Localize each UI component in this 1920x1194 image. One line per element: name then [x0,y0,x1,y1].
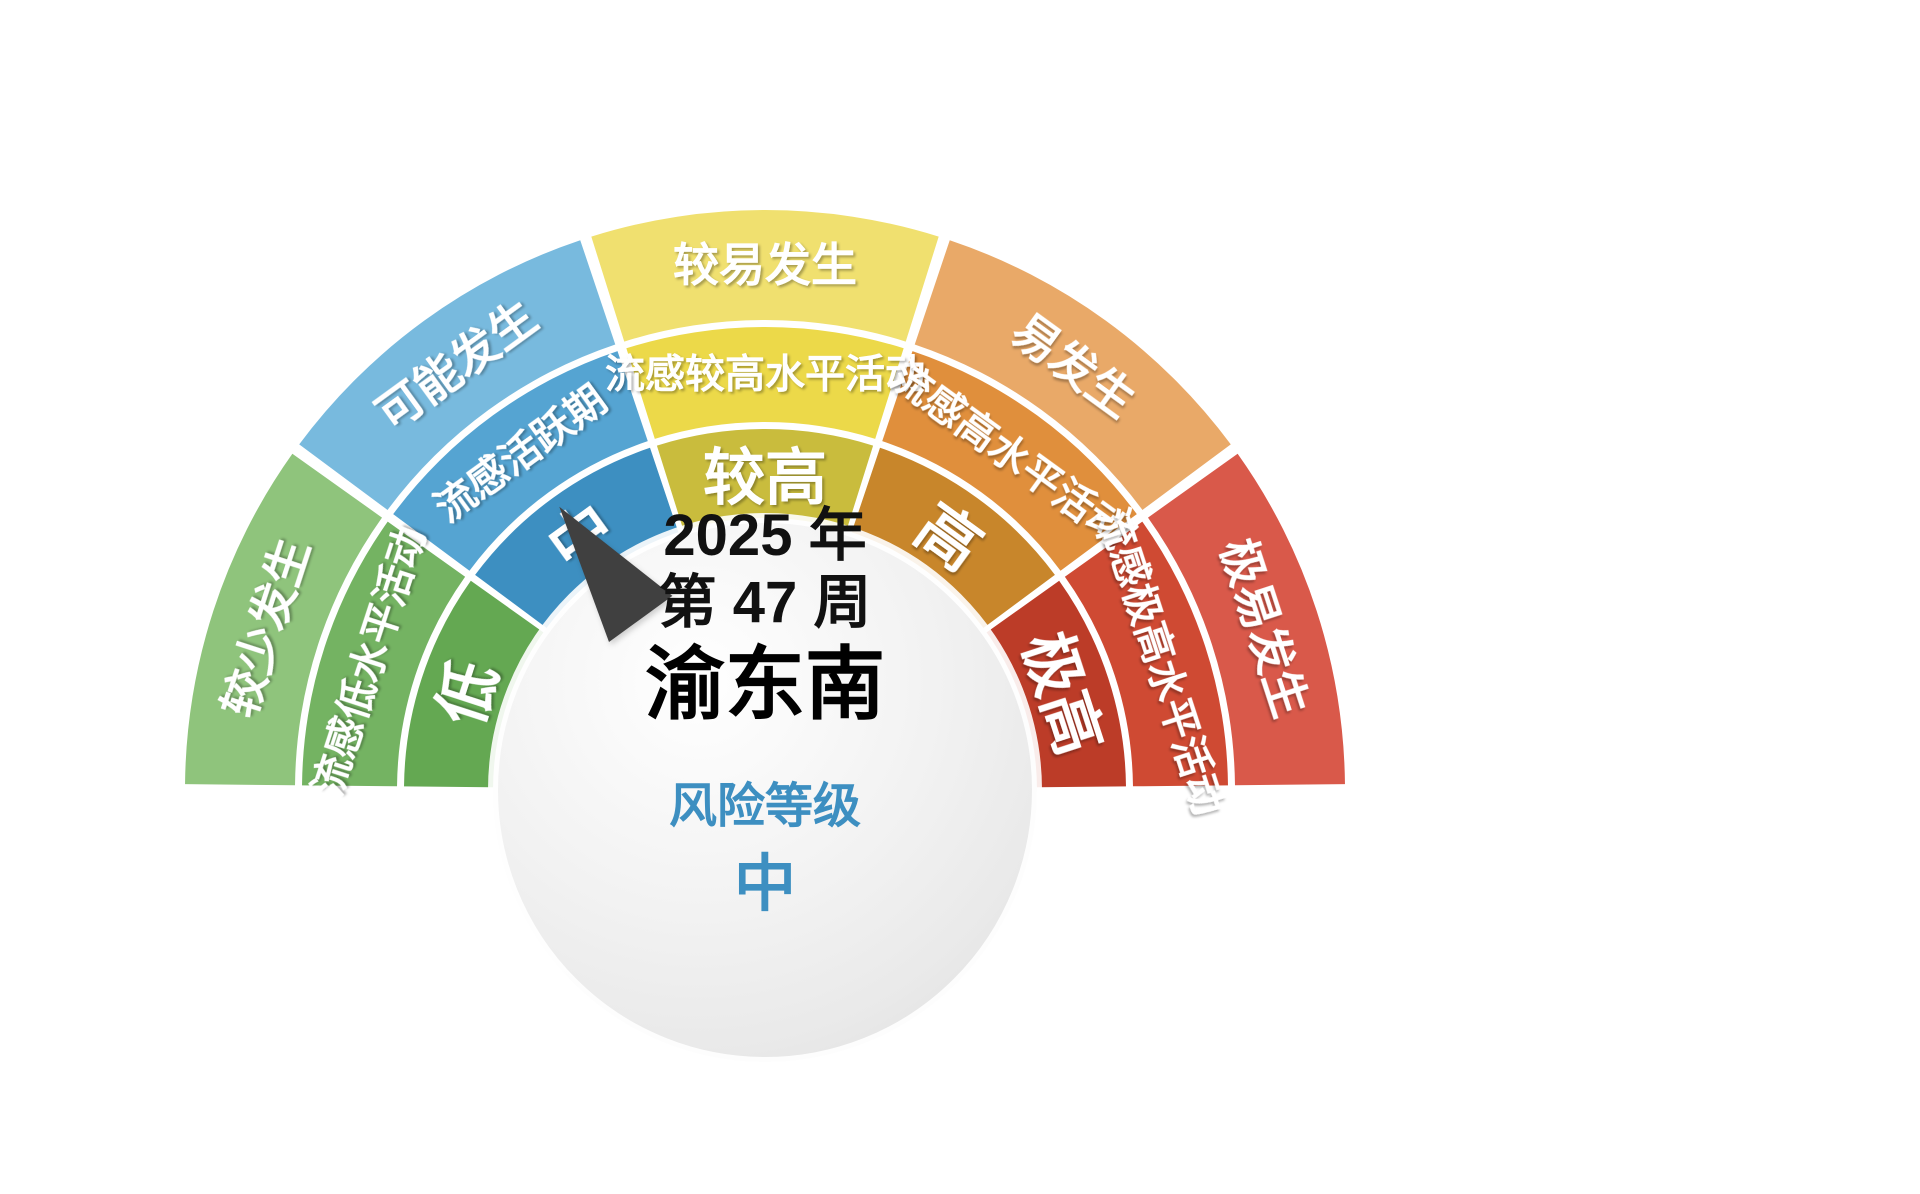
risk-gauge-chart: 较少发生流感低水平活动低可能发生流感活跃期中较易发生流感较高水平活动较高易发生流… [0,0,1920,1194]
center-risk-value: 中 [734,850,796,919]
center-risk-label: 风险等级 [669,780,861,833]
center-region: 渝东南 [645,640,885,729]
gauge-label-较高-occurrence: 较易发生 [673,239,857,291]
center-year: 2025 年 [663,503,866,568]
gauge-label-较高-activity: 流感较高水平活动 [605,353,925,397]
gauge-chart-page: 较少发生流感低水平活动低可能发生流感活跃期中较易发生流感较高水平活动较高易发生流… [0,0,1920,1194]
center-week: 第 47 周 [659,570,872,635]
